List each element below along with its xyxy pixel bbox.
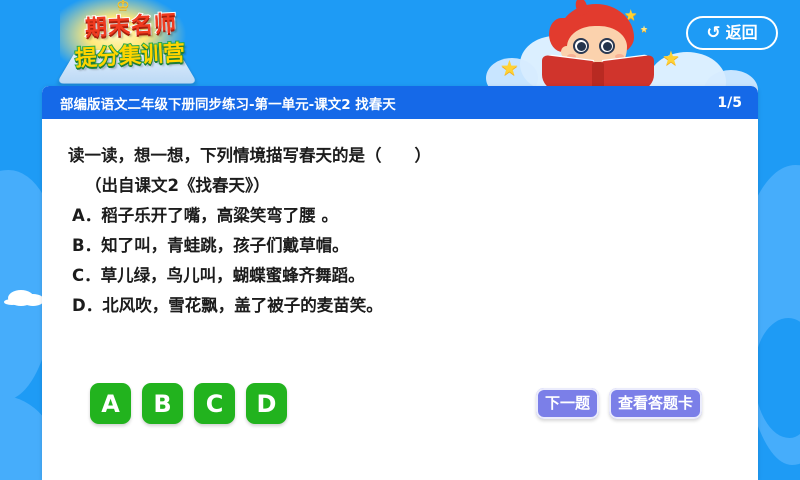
answer-button-a[interactable]: A [90,383,131,424]
view-answer-card-button[interactable]: 查看答题卡 [609,388,702,419]
boy-eye-right [599,38,615,54]
next-question-button[interactable]: 下一题 [536,388,599,419]
boy-eye-left [573,38,589,54]
answer-button-b[interactable]: B [142,383,183,424]
option-b: B．知了叫，青蛙跳，孩子们戴草帽。 [68,231,732,261]
cloud-icon-left [8,290,34,306]
answer-button-c[interactable]: C [194,383,235,424]
answer-button-d[interactable]: D [246,383,287,424]
question-source: （出自课文2《找春天》） [68,171,732,201]
quiz-app-root: ★ ★ ★ ★ ♔ 期末名师 提分集训营 [0,0,800,480]
question-area: 读一读，想一想，下列情境描写春天的是（ ） （出自课文2《找春天》） A．稻子乐… [42,119,758,321]
option-c: C．草儿绿，鸟儿叫，蝴蝶蜜蜂齐舞蹈。 [68,261,732,291]
return-button[interactable]: ↺ 返回 [686,16,778,50]
app-logo: ♔ 期末名师 提分集训营 [58,0,198,90]
page-indicator: 1/5 [717,95,742,111]
lesson-title: 部编版语文二年级下册同步练习-第一单元-课文2 找春天 [60,93,705,113]
return-button-label: 返回 [726,25,758,41]
option-a: A．稻子乐开了嘴，高粱笑弯了腰 。 [68,201,732,231]
action-button-group: 下一题 查看答题卡 [536,388,702,419]
background-blob-right-lower [754,318,800,438]
answer-choice-group: A B C D [90,383,287,424]
option-d: D．北风吹，雪花飘，盖了被子的麦苗笑。 [68,291,732,321]
question-stem: 读一读，想一想，下列情境描写春天的是（ ） [68,141,732,171]
return-arrow-icon: ↺ [706,25,720,42]
content-card: 部编版语文二年级下册同步练习-第一单元-课文2 找春天 1/5 读一读，想一想，… [42,86,758,480]
boy-reading-illustration [536,2,662,92]
lesson-title-bar: 部编版语文二年级下册同步练习-第一单元-课文2 找春天 1/5 [42,86,758,119]
